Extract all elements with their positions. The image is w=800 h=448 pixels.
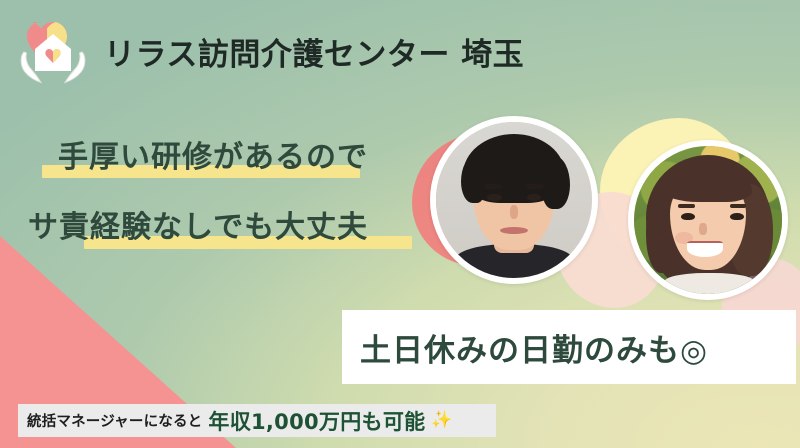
staff-photo-female: [628, 140, 788, 300]
headline-line-2-text: サ責経験なしでも大丈夫: [28, 210, 368, 245]
headline-line-1: 手厚い研修があるので: [58, 132, 422, 176]
banner-lead-text: 統括マネージャーになると: [27, 410, 202, 431]
callout-box: 土日休みの日勤のみも◎: [342, 310, 796, 384]
poster-canvas: リラス訪問介護センター 埼玉 手厚い研修があるので サ責経験なしでも大丈夫: [0, 0, 800, 448]
staff-photo-male-image: [436, 122, 592, 278]
brand-header: リラス訪問介護センター 埼玉: [14, 12, 524, 90]
staff-photo-male: [430, 116, 598, 284]
callout-text: 土日休みの日勤のみも◎: [342, 325, 708, 370]
heart-house-hands-logo-icon: [14, 12, 92, 90]
headline-line-1-text: 手厚い研修があるので: [58, 140, 368, 175]
brand-title: リラス訪問介護センター 埼玉: [104, 29, 524, 74]
sparkles-icon: ✨: [431, 412, 452, 429]
bottom-banner: 統括マネージャーになると 年収1,000万円も可能 ✨: [18, 404, 496, 437]
staff-photo-female-image: [634, 146, 782, 294]
banner-emphasis-text: 年収1,000万円も可能: [208, 406, 425, 436]
headline-line-2: サ責経験なしでも大丈夫: [28, 202, 422, 246]
headline-block: 手厚い研修があるので サ責経験なしでも大丈夫: [22, 132, 422, 246]
